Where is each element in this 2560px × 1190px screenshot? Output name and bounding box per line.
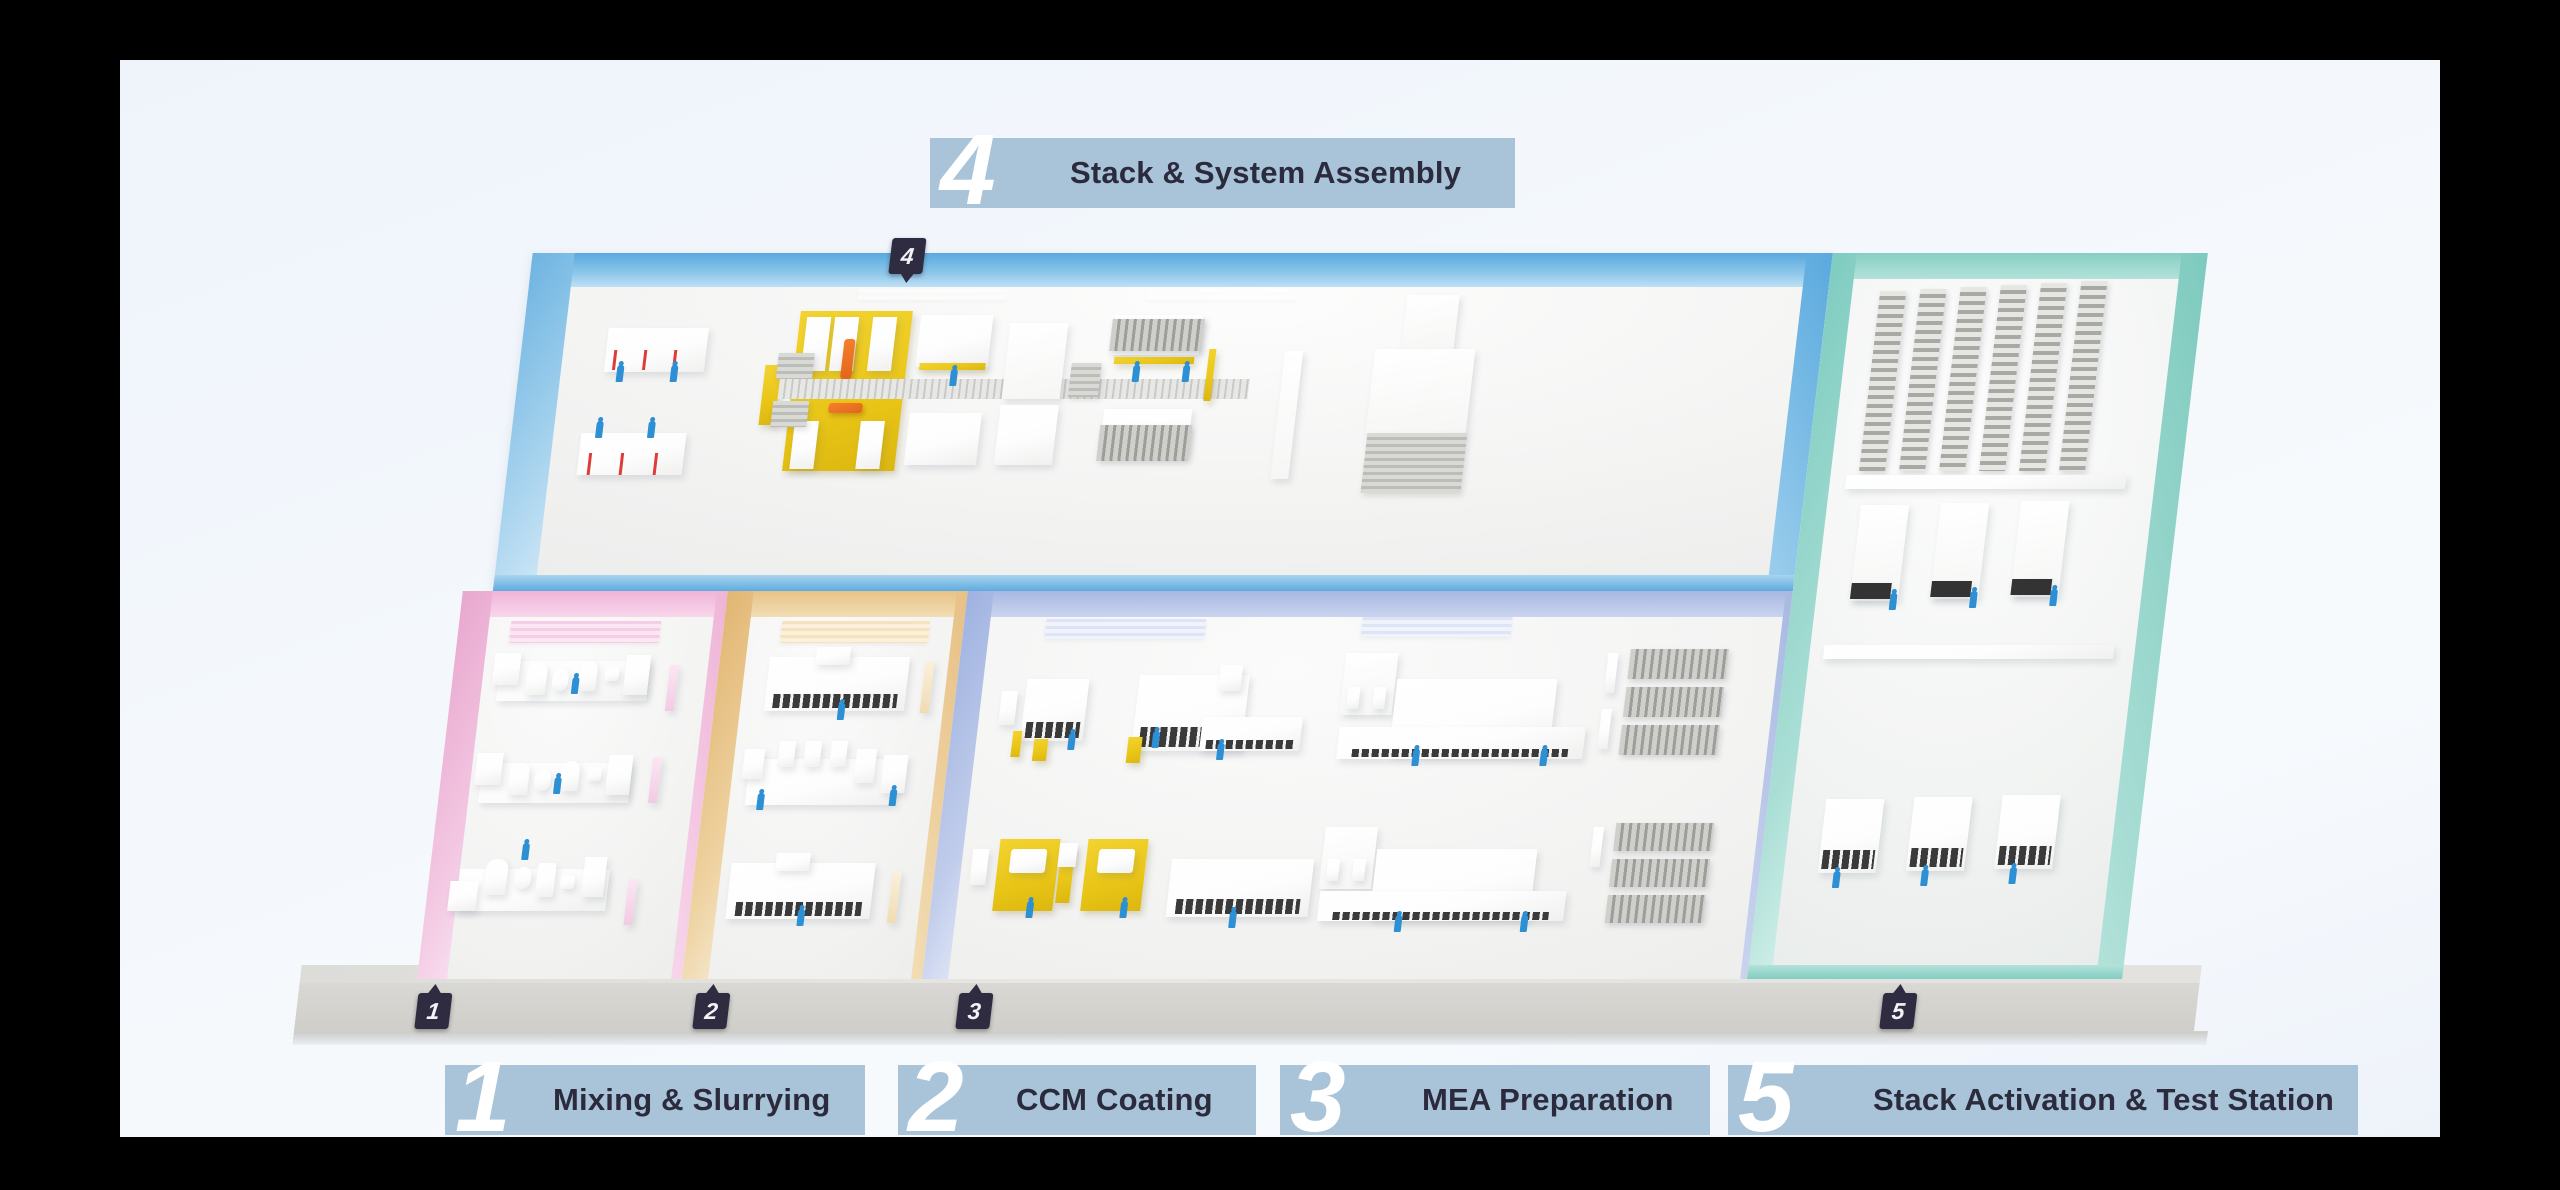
storage-rack — [1623, 687, 1725, 717]
ceiling-vent — [1360, 617, 1512, 637]
agv-cart — [1032, 739, 1049, 761]
enclosure-module — [994, 405, 1059, 465]
activation-bench — [1818, 799, 1885, 873]
zone-marker-2[interactable]: 2 — [692, 993, 730, 1029]
zone-marker-5[interactable]: 5 — [1879, 993, 1917, 1029]
zone-marker-1[interactable]: 1 — [414, 993, 452, 1029]
activation-bench — [1906, 797, 1973, 871]
mea-stacking-bench — [1165, 859, 1314, 917]
tray-rack — [1109, 319, 1205, 351]
oven-stack — [803, 741, 822, 767]
rack-aisle-divider — [1845, 475, 2127, 489]
mea-line-conveyor — [1336, 727, 1586, 759]
assembly-station — [915, 315, 993, 367]
storage-rack — [1613, 823, 1714, 851]
zone-mea-preparation-hall[interactable] — [922, 591, 1798, 979]
isometric-factory-scene: 1 2 3 4 5 — [120, 60, 2440, 1137]
zone-mixing-slurrying-room[interactable] — [417, 591, 728, 979]
drying-oven — [745, 759, 900, 805]
ceiling-vent — [1044, 619, 1206, 639]
zone5-wall-back — [1830, 253, 2208, 279]
reagent-cabinet — [474, 753, 504, 785]
zone2-wall-back — [725, 591, 968, 617]
enclosure-module — [1002, 323, 1069, 399]
palletizer-body — [1366, 349, 1476, 433]
diagram-canvas: 4 Stack & System Assembly — [120, 60, 2440, 1137]
storage-rack — [1619, 725, 1721, 755]
mea-line-conveyor — [1317, 891, 1567, 921]
storage-rack — [1628, 649, 1730, 679]
zone-marker-4[interactable]: 4 — [888, 238, 926, 274]
step-label-2[interactable]: 2 CCM Coating — [898, 1065, 1256, 1135]
step-title-5: Stack Activation & Test Station — [1873, 1082, 2334, 1118]
palletizer-head — [1401, 295, 1460, 353]
oven-stack — [777, 741, 796, 767]
control-box — [586, 767, 602, 781]
mixer-vessel — [525, 663, 549, 695]
buffer-rack — [1068, 363, 1102, 397]
step-title-3: MEA Preparation — [1422, 1082, 1674, 1118]
oven-outlet — [853, 749, 877, 783]
robot-arm — [828, 403, 863, 413]
pallet-stack — [1360, 433, 1467, 493]
chamber-console — [1850, 583, 1892, 599]
side-cabinet — [623, 655, 652, 695]
step-label-1[interactable]: 1 Mixing & Slurrying — [445, 1065, 865, 1135]
activation-bench — [1994, 795, 2061, 869]
tray-rack — [1096, 425, 1192, 461]
mixer-vessel — [577, 661, 599, 691]
ceiling-vent — [1147, 289, 1298, 300]
zone-stack-system-assembly-hall[interactable] — [493, 253, 1833, 591]
coater-hood — [775, 853, 811, 871]
step-label-3[interactable]: 3 MEA Preparation — [1280, 1065, 1710, 1135]
chamber-console — [2010, 579, 2052, 595]
fixture-rack — [770, 401, 809, 427]
zone4-wall-front — [493, 575, 1795, 591]
control-cabinet-row-b — [577, 433, 687, 475]
oven-stack — [829, 741, 848, 767]
screenshot-stage: 4 Stack & System Assembly — [0, 0, 2560, 1190]
reagent-cabinet — [447, 881, 479, 911]
zone5-wall-front — [1747, 965, 2124, 979]
transfer-head — [1057, 843, 1078, 867]
mixer-vessel — [483, 859, 509, 895]
side-cabinet — [605, 755, 634, 795]
inspection-bench — [1199, 717, 1303, 751]
zone-marker-3[interactable]: 3 — [955, 993, 993, 1029]
step-label-5[interactable]: 5 Stack Activation & Test Station — [1728, 1065, 2358, 1135]
coating-machine — [764, 657, 910, 711]
step-title-1: Mixing & Slurrying — [553, 1082, 830, 1118]
mixer-vessel — [559, 761, 581, 791]
ceiling-vent — [509, 621, 662, 643]
step-title-2: CCM Coating — [1016, 1082, 1213, 1118]
overhead-gantry — [1114, 357, 1195, 364]
fixture-rack — [776, 353, 815, 379]
storage-rack — [1605, 895, 1706, 923]
reagent-cabinet — [492, 653, 522, 685]
coater-hood — [815, 647, 851, 665]
storage-rack — [1609, 859, 1710, 887]
zone-ccm-coating-room[interactable] — [682, 591, 968, 979]
press-plate — [1097, 849, 1136, 873]
ceiling-vent — [857, 289, 1008, 300]
chamber-console — [1930, 581, 1972, 597]
zone4-wall-back — [529, 253, 1833, 287]
control-box — [604, 667, 620, 681]
oven-inlet — [742, 749, 766, 779]
press-plate — [1009, 849, 1048, 873]
zone3-wall-back — [965, 591, 1798, 617]
zone1-wall-back — [460, 591, 728, 617]
ceiling-vent — [780, 621, 931, 643]
mea-press-station — [1020, 679, 1089, 741]
mixer-vessel — [507, 763, 531, 795]
assembly-station — [904, 413, 982, 465]
control-box — [560, 875, 576, 889]
station-tower — [1218, 665, 1243, 691]
side-cabinet — [581, 857, 608, 897]
chamber-aisle-divider — [1823, 645, 2115, 659]
